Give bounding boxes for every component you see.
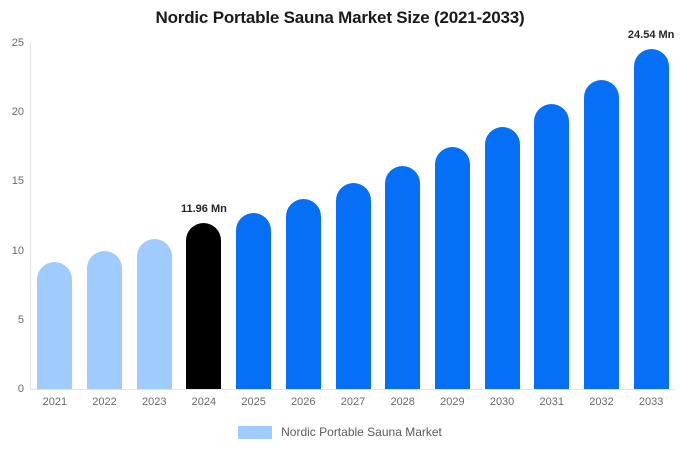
bar-2029[interactable] [435, 147, 470, 389]
x-axis-tick-2032: 2032 [589, 396, 613, 408]
bar-2031[interactable] [534, 104, 569, 389]
y-axis-tick-25: 25 [0, 37, 24, 49]
x-axis-tick-2029: 2029 [440, 396, 464, 408]
bar-2026[interactable] [286, 199, 321, 389]
x-axis-tick-2022: 2022 [92, 396, 116, 408]
x-axis-tick-2024: 2024 [192, 396, 216, 408]
bar-2021[interactable] [37, 262, 72, 389]
x-axis-tick-2023: 2023 [142, 396, 166, 408]
x-axis-tick-2031: 2031 [540, 396, 564, 408]
x-axis-tick-2025: 2025 [241, 396, 265, 408]
bar-2027[interactable] [336, 183, 371, 389]
chart-legend: Nordic Portable Sauna Market [0, 425, 680, 439]
bar-2023[interactable] [137, 239, 172, 389]
bar-2033[interactable] [634, 49, 669, 389]
legend-item-label: Nordic Portable Sauna Market [281, 425, 442, 439]
x-axis-tick-2028: 2028 [390, 396, 414, 408]
x-axis-tick-2027: 2027 [341, 396, 365, 408]
chart-container: Nordic Portable Sauna Market Size (2021-… [0, 0, 680, 450]
bar-value-label-2024: 11.96 Mn [181, 203, 227, 215]
bar-2024[interactable] [186, 223, 221, 389]
x-axis-tick-2021: 2021 [43, 396, 67, 408]
bar-2032[interactable] [584, 80, 619, 389]
bar-2022[interactable] [87, 251, 122, 389]
y-axis-tick-0: 0 [0, 383, 24, 395]
x-axis-tick-2033: 2033 [639, 396, 663, 408]
bar-2025[interactable] [236, 213, 271, 389]
y-axis-tick-5: 5 [0, 314, 24, 326]
chart-title: Nordic Portable Sauna Market Size (2021-… [0, 8, 680, 28]
legend-swatch-icon [238, 426, 272, 439]
bar-value-label-2033: 24.54 Mn [628, 29, 674, 41]
plot-area [30, 43, 676, 389]
y-axis-tick-20: 20 [0, 106, 24, 118]
x-axis-tick-2030: 2030 [490, 396, 514, 408]
bar-2028[interactable] [385, 166, 420, 389]
x-axis-tick-2026: 2026 [291, 396, 315, 408]
y-axis-tick-15: 15 [0, 175, 24, 187]
y-axis-tick-10: 10 [0, 245, 24, 257]
bar-2030[interactable] [485, 127, 520, 389]
x-axis-line [30, 389, 676, 390]
